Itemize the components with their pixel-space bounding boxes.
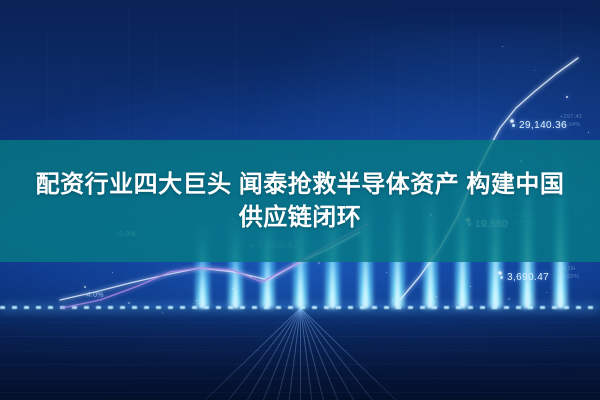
- financial-banner: 29,140.3619,5807,465.673,690.47 -3.0%-4.…: [0, 0, 600, 400]
- pct-left-lower: -4.0%: [84, 292, 104, 299]
- headline-line-2: 供应链闭环: [14, 201, 586, 234]
- sub-3690-line2: -0.09%: [560, 274, 579, 282]
- value-3690-text: 3,690.47: [507, 272, 549, 283]
- sub-29140: +297.42+1.04%: [560, 114, 582, 130]
- sub-3690: -3.18-0.09%: [560, 266, 579, 282]
- headline-line-1: 配资行业四大巨头 闻泰抢救半导体资产 构建中国: [14, 168, 586, 201]
- headline-band: 配资行业四大巨头 闻泰抢救半导体资产 构建中国 供应链闭环: [0, 140, 600, 262]
- value-29140: 29,140.36: [512, 120, 567, 131]
- sub-3690-line1: -3.18: [560, 266, 579, 274]
- value-marker-dot: [500, 276, 503, 279]
- sub-29140-line1: +297.42: [560, 114, 582, 122]
- value-3690: 3,690.47: [500, 272, 549, 283]
- value-marker-dot: [512, 124, 515, 127]
- sub-29140-line2: +1.04%: [560, 122, 582, 130]
- headline-container: 配资行业四大巨头 闻泰抢救半导体资产 构建中国 供应链闭环: [0, 168, 600, 234]
